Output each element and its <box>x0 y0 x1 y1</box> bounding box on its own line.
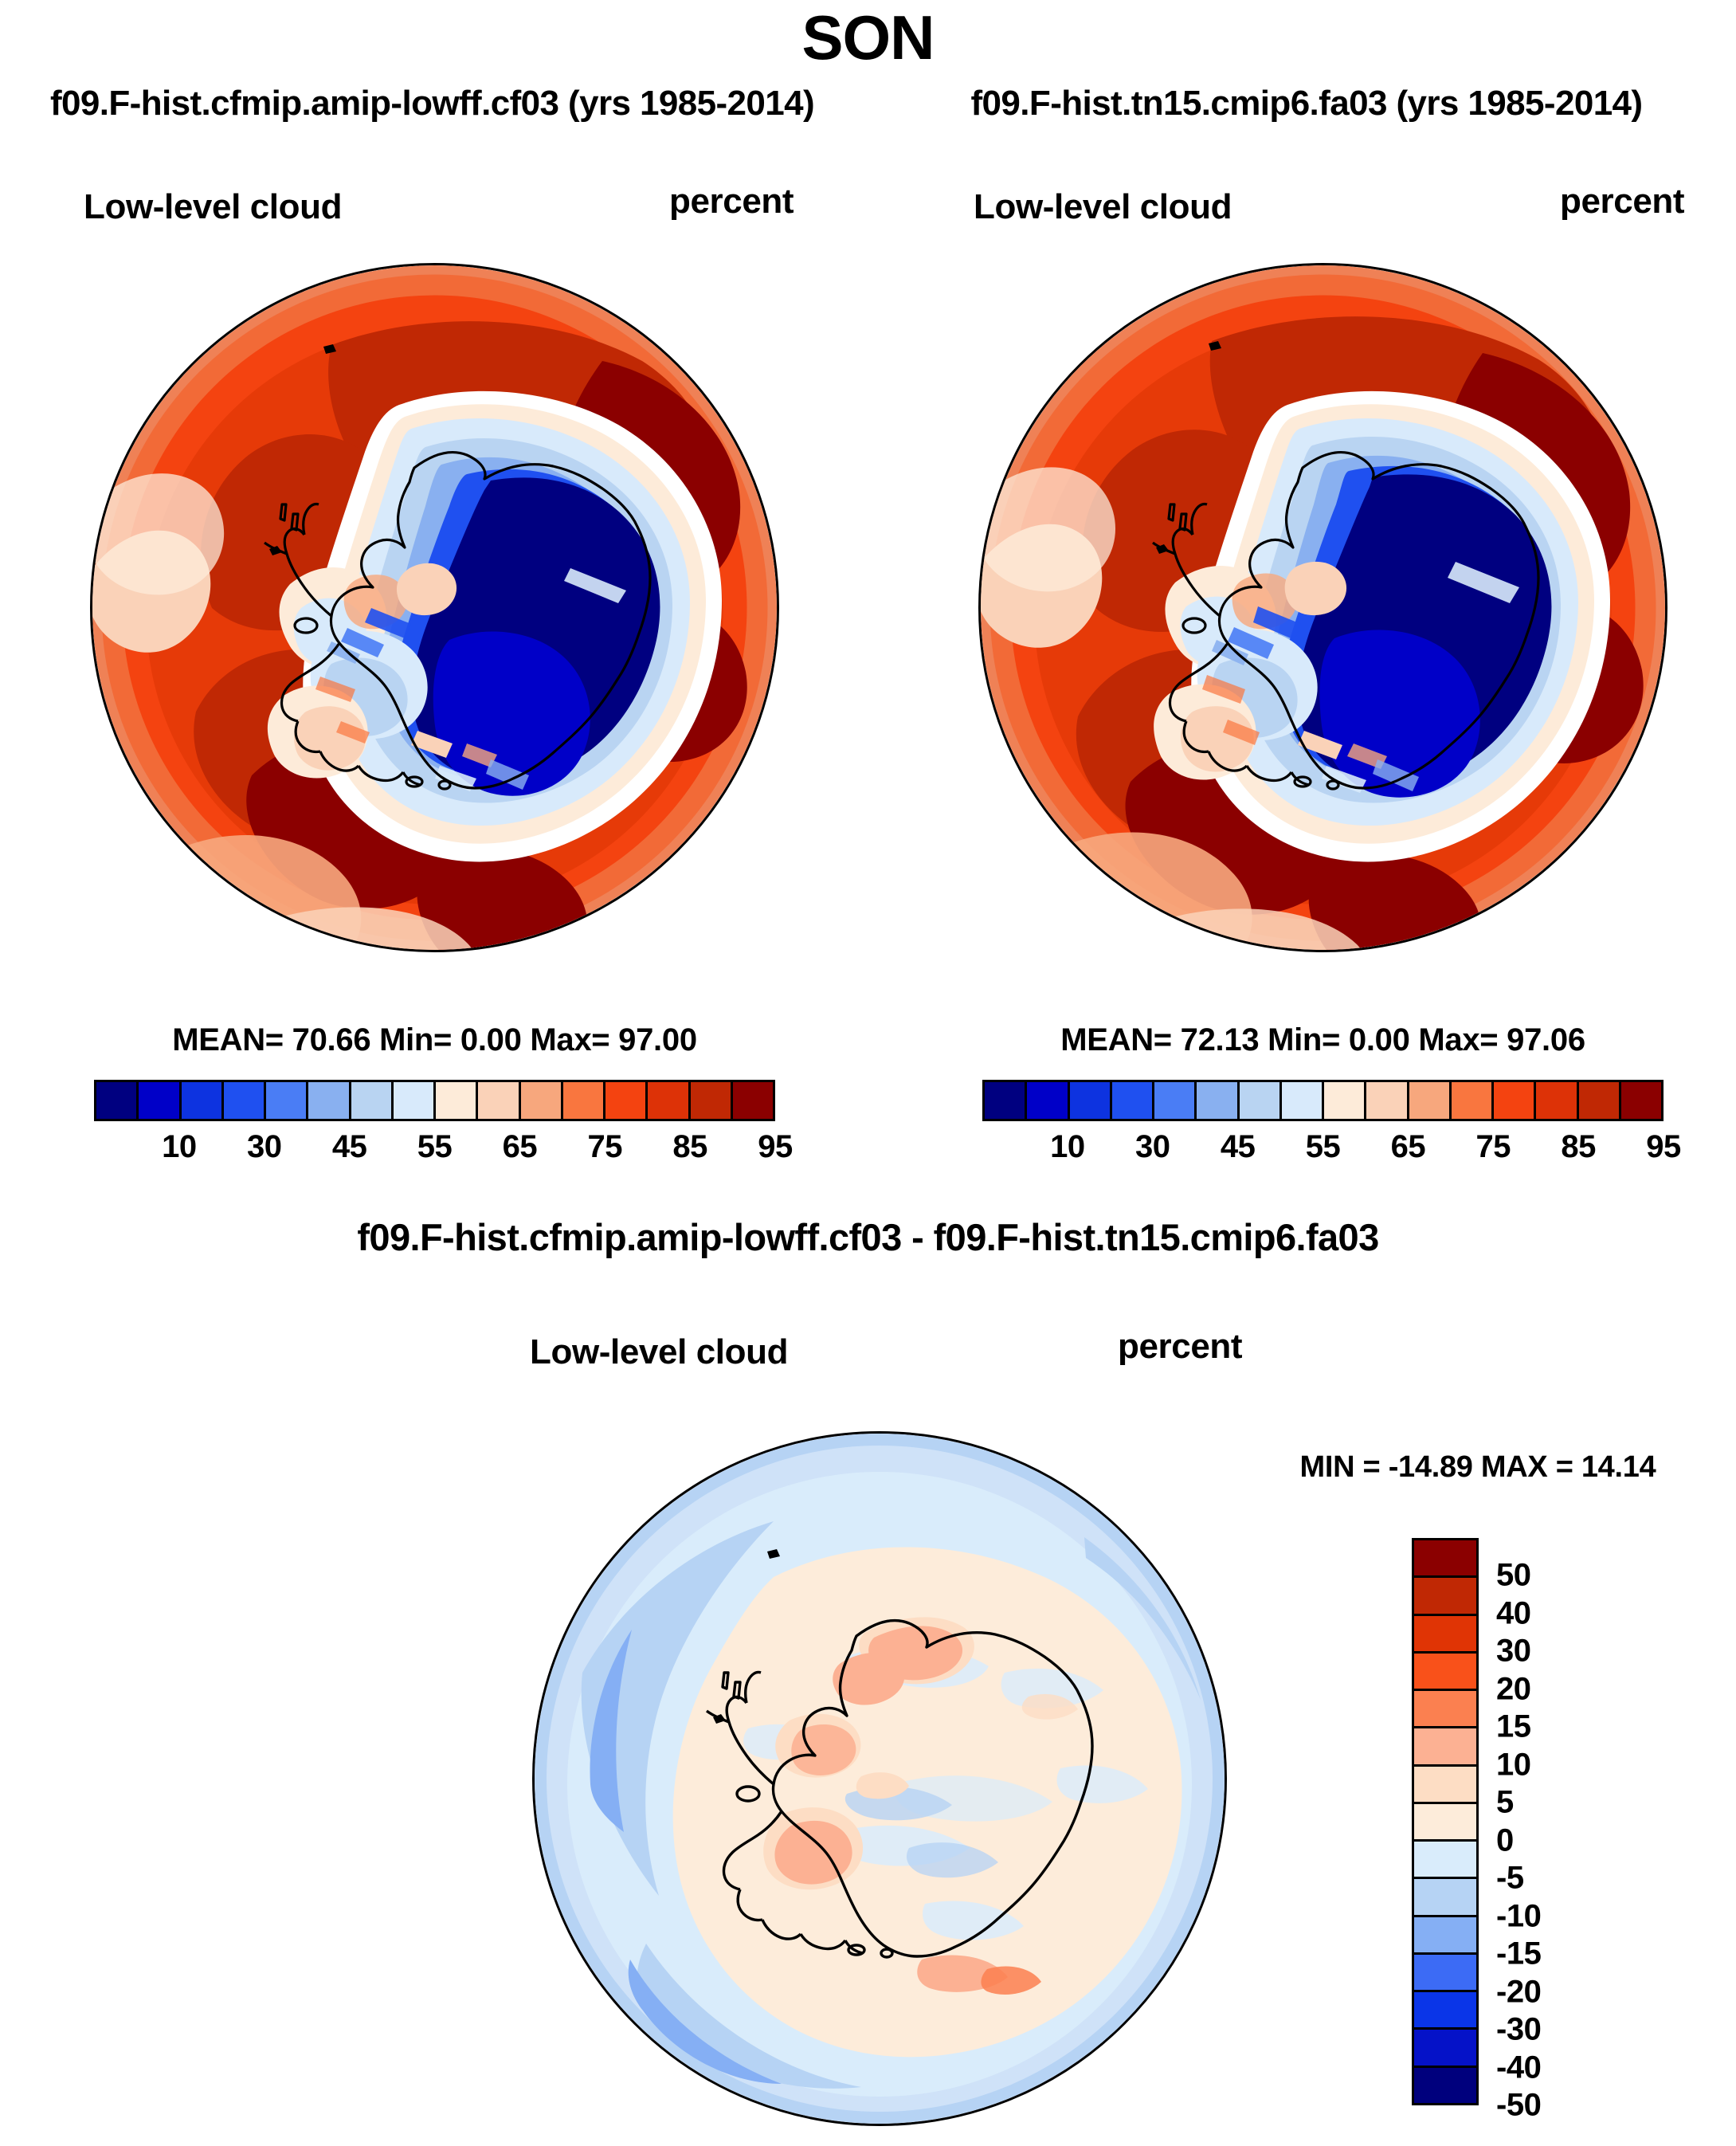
colorbar-segment <box>1409 1082 1452 1119</box>
colorbar-tick-label: 55 <box>1306 1129 1341 1165</box>
difference-panel-title: f09.F-hist.cfmip.amip-lowff.cf03 - f09.F… <box>0 1215 1736 1259</box>
right-panel-run-title: f09.F-hist.tn15.cmip6.fa03 (yrs 1985-201… <box>880 84 1733 124</box>
colorbar-tick-label: 95 <box>1646 1129 1681 1165</box>
difference-colorbar-tick-label: -50 <box>1496 2088 1541 2124</box>
colorbar-segment <box>351 1082 394 1119</box>
difference-colorbar-segment <box>1414 1767 1476 1804</box>
colorbar-segment <box>1536 1082 1578 1119</box>
colorbar-segment <box>266 1082 308 1119</box>
difference-colorbar-tick-label: -10 <box>1496 1898 1541 1934</box>
colorbar-segment <box>308 1082 351 1119</box>
difference-colorbar-segment <box>1414 1654 1476 1691</box>
difference-colorbar-segment <box>1414 1992 1476 2030</box>
colorbar-segment <box>1579 1082 1621 1119</box>
difference-panel-variable-label: Low-level cloud <box>530 1332 788 1372</box>
difference-colorbar-tick-label: 20 <box>1496 1671 1531 1707</box>
left-panel-map-svg <box>92 265 777 950</box>
colorbar-segment <box>1366 1082 1409 1119</box>
colorbar-segment <box>436 1082 478 1119</box>
colorbar-segment <box>1027 1082 1069 1119</box>
difference-colorbar <box>1412 1538 1479 2105</box>
colorbar-segment <box>648 1082 690 1119</box>
difference-colorbar-tick-label: -5 <box>1496 1861 1524 1897</box>
difference-colorbar-segment <box>1414 1578 1476 1615</box>
difference-panel-map-svg <box>535 1434 1225 2124</box>
colorbar-segment <box>224 1082 266 1119</box>
colorbar-tick-label: 65 <box>503 1129 538 1165</box>
colorbar-tick-label: 75 <box>1476 1129 1511 1165</box>
difference-panel-unit-label: percent <box>1118 1327 1242 1367</box>
left-panel-colorbar: 1030455565758595 <box>94 1080 775 1171</box>
colorbar-tick-label: 85 <box>1561 1129 1596 1165</box>
right-panel-unit-label: percent <box>1560 182 1684 222</box>
left-panel-polar-map <box>90 263 779 952</box>
colorbar-segment <box>563 1082 605 1119</box>
colorbar-segment <box>1452 1082 1494 1119</box>
difference-colorbar-segment <box>1414 1842 1476 1879</box>
season-title: SON <box>0 2 1736 74</box>
colorbar-segment <box>1070 1082 1112 1119</box>
colorbar-segment <box>1154 1082 1197 1119</box>
colorbar-tick-label: 30 <box>1135 1129 1170 1165</box>
left-panel-run-title: f09.F-hist.cfmip.amip-lowff.cf03 (yrs 19… <box>8 84 856 124</box>
right-panel-colorbar: 1030455565758595 <box>982 1080 1664 1171</box>
colorbar-segment <box>1240 1082 1282 1119</box>
colorbar-segment <box>1324 1082 1366 1119</box>
difference-colorbar-segment <box>1414 1879 1476 1916</box>
colorbar-segment <box>182 1082 224 1119</box>
colorbar-tick-label: 10 <box>162 1129 197 1165</box>
right-panel-polar-map <box>978 263 1667 952</box>
colorbar-tick-label: 55 <box>417 1129 453 1165</box>
colorbar-segment <box>1621 1082 1661 1119</box>
difference-colorbar-tick-label: 5 <box>1496 1785 1514 1821</box>
difference-colorbar-tick-label: 30 <box>1496 1634 1531 1669</box>
difference-colorbar-labels: 50403020151050-5-10-15-20-30-40-50 <box>1496 1538 1624 2105</box>
difference-colorbar-tick-label: 40 <box>1496 1595 1531 1631</box>
difference-colorbar-tick-label: 50 <box>1496 1558 1531 1594</box>
colorbar-tick-label: 95 <box>758 1129 793 1165</box>
right-panel-variable-label: Low-level cloud <box>974 187 1232 227</box>
difference-colorbar-tick-label: -40 <box>1496 2050 1541 2085</box>
difference-colorbar-segment <box>1414 1540 1476 1578</box>
difference-colorbar-segment <box>1414 1691 1476 1728</box>
colorbar-segment <box>1494 1082 1536 1119</box>
colorbar-segment <box>96 1082 139 1119</box>
right-panel-stats: MEAN= 72.13 Min= 0.00 Max= 97.06 <box>978 1022 1667 1058</box>
left-panel-stats: MEAN= 70.66 Min= 0.00 Max= 97.00 <box>90 1022 779 1058</box>
difference-colorbar-segment <box>1414 1955 1476 1992</box>
difference-colorbar-tick-label: 0 <box>1496 1822 1514 1858</box>
colorbar-segment <box>139 1082 181 1119</box>
colorbar-segment <box>521 1082 563 1119</box>
left-panel-variable-label: Low-level cloud <box>84 187 342 227</box>
right-panel-map-svg <box>981 265 1665 950</box>
colorbar-segment <box>605 1082 648 1119</box>
difference-panel-polar-map <box>532 1431 1227 2126</box>
difference-colorbar-tick-label: -30 <box>1496 2012 1541 2048</box>
difference-colorbar-segment <box>1414 2030 1476 2067</box>
colorbar-segment <box>985 1082 1027 1119</box>
colorbar-tick-label: 65 <box>1391 1129 1426 1165</box>
colorbar-tick-label: 75 <box>588 1129 623 1165</box>
colorbar-tick-label: 10 <box>1050 1129 1085 1165</box>
colorbar-segment <box>691 1082 733 1119</box>
difference-colorbar-tick-label: 15 <box>1496 1709 1531 1745</box>
difference-colorbar-segment <box>1414 1616 1476 1654</box>
difference-colorbar-segment <box>1414 1728 1476 1766</box>
difference-colorbar-segment <box>1414 1917 1476 1955</box>
colorbar-tick-label: 45 <box>1221 1129 1256 1165</box>
colorbar-segment <box>1197 1082 1239 1119</box>
colorbar-segment <box>394 1082 436 1119</box>
colorbar-segment <box>733 1082 773 1119</box>
difference-colorbar-tick-label: -15 <box>1496 1936 1541 1972</box>
difference-colorbar-tick-label: 10 <box>1496 1747 1531 1783</box>
colorbar-segment <box>1112 1082 1154 1119</box>
colorbar-segment <box>478 1082 520 1119</box>
colorbar-tick-label: 30 <box>247 1129 282 1165</box>
colorbar-tick-label: 85 <box>672 1129 707 1165</box>
difference-colorbar-segment <box>1414 1804 1476 1842</box>
difference-colorbar-segment <box>1414 2068 1476 2103</box>
left-panel-unit-label: percent <box>669 182 794 222</box>
difference-minmax-label: MIN = -14.89 MAX = 14.14 <box>1239 1450 1717 1485</box>
colorbar-tick-label: 45 <box>332 1129 367 1165</box>
difference-colorbar-tick-label: -20 <box>1496 1974 1541 2010</box>
colorbar-segment <box>1282 1082 1324 1119</box>
